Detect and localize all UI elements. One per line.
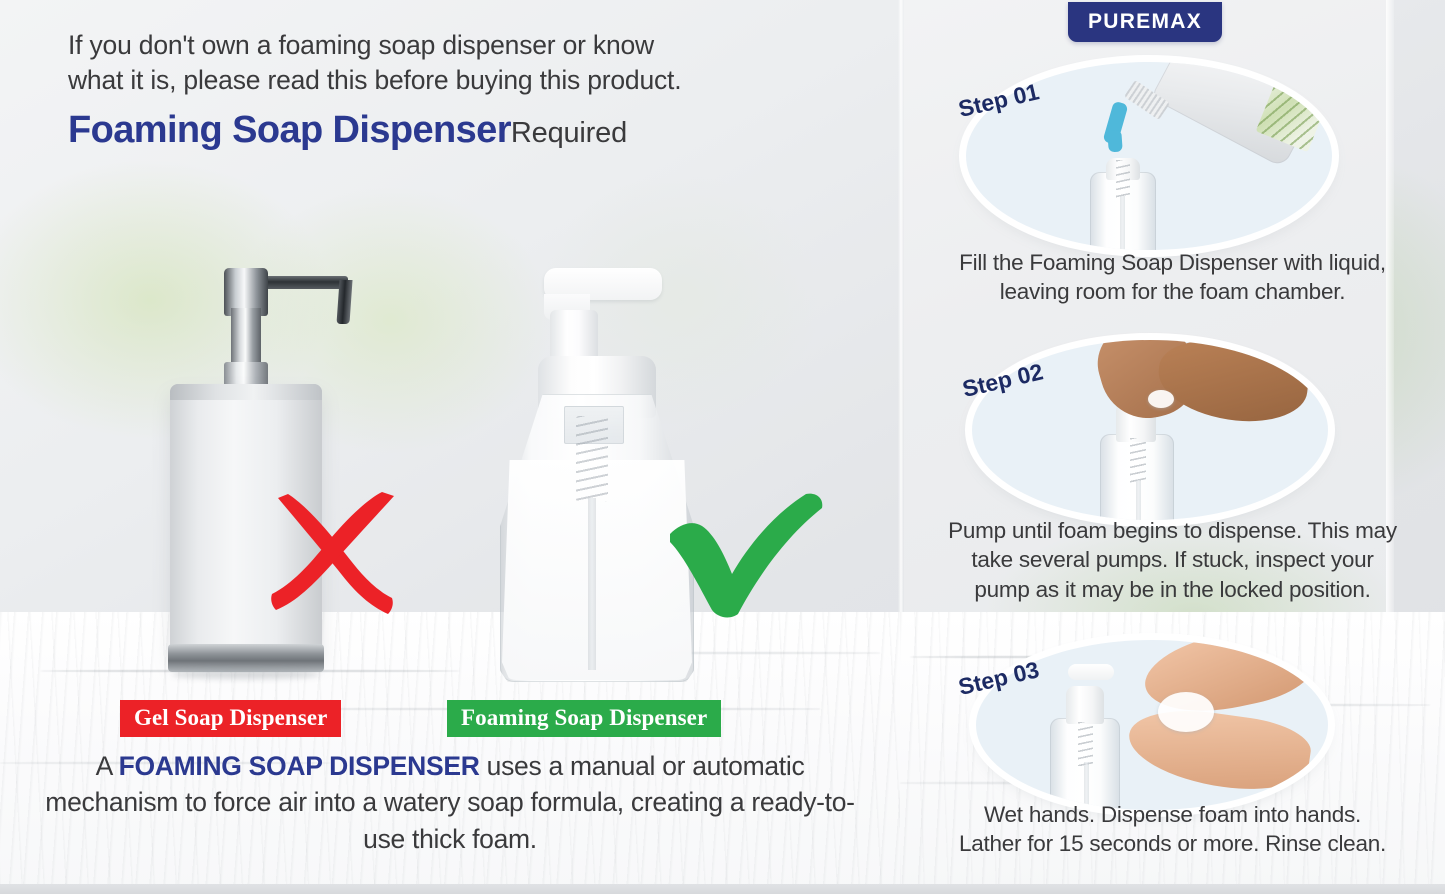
gel-spout	[262, 276, 348, 289]
step-03-caption-line-1: Wet hands. Dispense foam into hands.	[900, 800, 1445, 829]
badge-foaming-soap-dispenser: Foaming Soap Dispenser	[447, 700, 721, 737]
foaming-soap-dispenser-image	[492, 246, 702, 686]
step-01-caption-line-2: leaving room for the foam chamber.	[900, 277, 1445, 306]
badge-gel-soap-dispenser: Gel Soap Dispenser	[120, 700, 341, 737]
bottom-edge-strip	[0, 884, 1445, 894]
definition-paragraph: A FOAMING SOAP DISPENSER uses a manual o…	[40, 748, 860, 857]
step-03-caption: Wet hands. Dispense foam into hands. Lat…	[900, 800, 1445, 859]
gel-bottle-base	[168, 644, 324, 672]
brand-logo-text: PUREMAX	[1088, 10, 1202, 34]
headline-block: If you don't own a foaming soap dispense…	[68, 28, 868, 152]
step-02-caption-line-2: take several pumps. If stuck, inspect yo…	[900, 545, 1445, 574]
page-title-light: Required	[511, 117, 627, 149]
intro-line-2: what it is, please read this before buyi…	[68, 63, 868, 98]
step-02-caption-line-3: pump as it may be in the locked position…	[900, 575, 1445, 604]
step-02-caption: Pump until foam begins to dispense. This…	[900, 516, 1445, 604]
foam-dip-tube	[588, 498, 596, 670]
gel-pump-stem	[231, 308, 261, 370]
step-03-caption-line-2: Lather for 15 seconds or more. Rinse cle…	[900, 829, 1445, 858]
x-mark-icon	[268, 492, 404, 618]
intro-line-1: If you don't own a foaming soap dispense…	[68, 28, 868, 63]
page-title-bold: Foaming Soap Dispenser	[68, 109, 511, 151]
step-03-dispenser	[1044, 656, 1130, 810]
check-mark-icon	[666, 492, 826, 620]
page-title: Foaming Soap DispenserRequired	[68, 109, 868, 152]
infographic-canvas: PUREMAX If you don't own a foaming soap …	[0, 0, 1445, 894]
blurb-strong: FOAMING SOAP DISPENSER	[119, 751, 480, 781]
step-02-foam	[1148, 390, 1174, 408]
step-01-dispenser	[1084, 140, 1162, 250]
foam-pump-spring	[576, 416, 608, 502]
brand-logo: PUREMAX	[1068, 2, 1222, 42]
step-01-caption: Fill the Foaming Soap Dispenser with liq…	[900, 248, 1445, 307]
step-01-caption-line-1: Fill the Foaming Soap Dispenser with liq…	[900, 248, 1445, 277]
step-03-hand-lower	[1124, 702, 1314, 799]
foam-pump-head	[544, 268, 662, 300]
blurb-prefix: A	[96, 751, 119, 781]
step-03-foam	[1158, 692, 1214, 732]
step-02-caption-line-1: Pump until foam begins to dispense. This…	[900, 516, 1445, 545]
